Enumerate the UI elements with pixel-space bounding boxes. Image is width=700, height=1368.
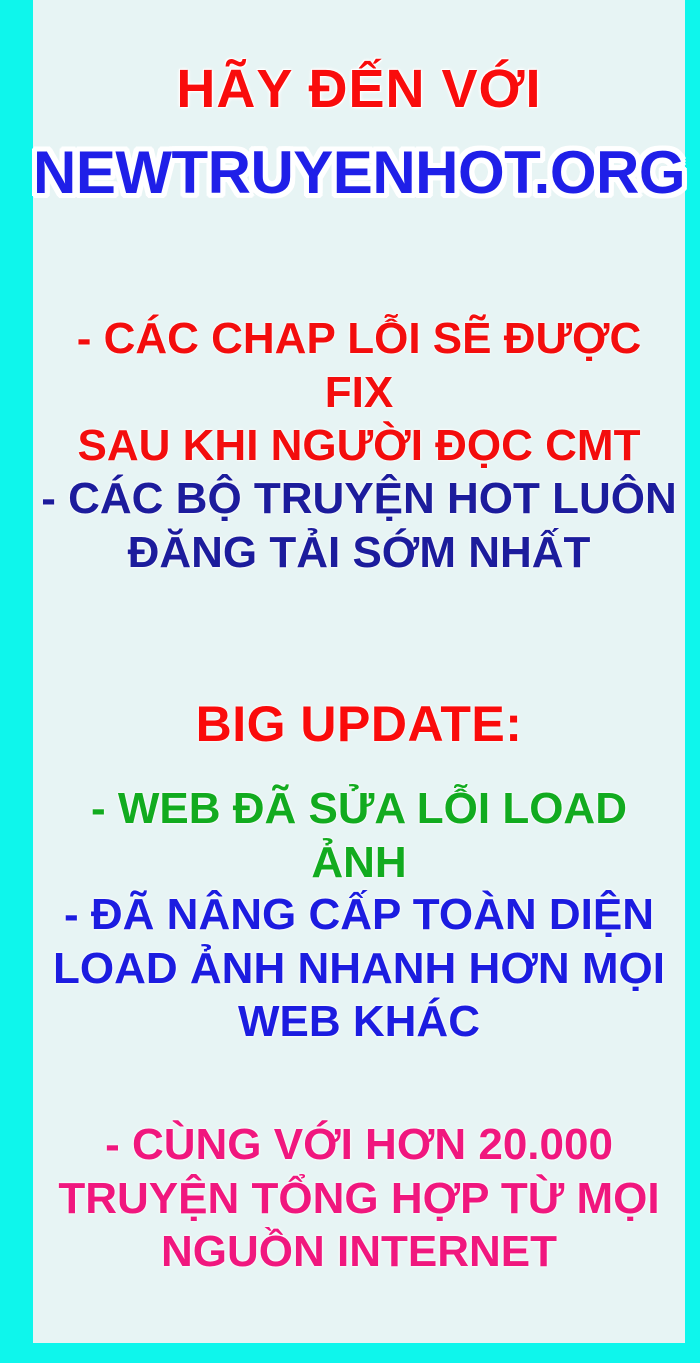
content-panel: HÃY ĐẾN VỚI NEWTRUYENHOT.ORG - CÁC CHAP …: [33, 0, 685, 1343]
note-hot-series: - CÁC BỘ TRUYỆN HOT LUÔN ĐĂNG TẢI SỚM NH…: [41, 472, 677, 579]
promo-banner: HÃY ĐẾN VỚI NEWTRUYENHOT.ORG - CÁC CHAP …: [0, 0, 700, 1368]
site-domain-text: NEWTRUYENHOT.ORG: [33, 138, 685, 209]
left-cyan-rail: [0, 0, 33, 1363]
note-chapter-fix: - CÁC CHAP LỖI SẼ ĐƯỢC FIX SAU KHI NGƯỜI…: [41, 312, 677, 473]
big-update-title: BIG UPDATE:: [41, 694, 677, 755]
note-library-count: - CÙNG VỚI HƠN 20.000 TRUYỆN TỔNG HỢP TỪ…: [41, 1118, 677, 1279]
bottom-cyan-band: [0, 1343, 700, 1363]
note-image-load-fix: - WEB ĐÃ SỬA LỖI LOAD ẢNH: [41, 782, 677, 889]
headline-invite: HÃY ĐẾN VỚI: [33, 58, 685, 122]
note-full-upgrade: - ĐÃ NÂNG CẤP TOÀN DIỆN LOAD ẢNH NHANH H…: [41, 888, 677, 1049]
